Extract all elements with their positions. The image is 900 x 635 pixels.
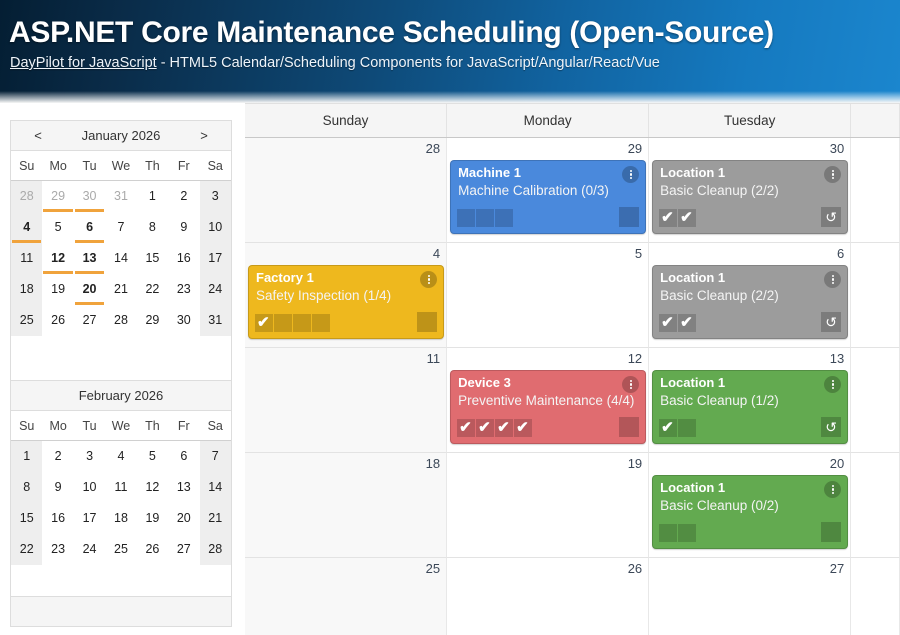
month-day-cell[interactable]: 13Location 1Basic Cleanup (1/2)✔↺ — [649, 348, 851, 453]
navigator-day-cell[interactable]: 28 — [105, 305, 136, 336]
event-task-text: Safety Inspection (1/4) — [256, 288, 391, 303]
checkbox-checked-icon[interactable]: ✔ — [514, 419, 532, 437]
navigator-day-cell[interactable]: 15 — [11, 503, 42, 534]
event-resource-name: Factory 1 — [256, 270, 314, 285]
navigator-day-of-week: Sa — [200, 411, 231, 440]
calendar-event[interactable]: Location 1Basic Cleanup (0/2) — [652, 475, 848, 549]
checkbox-empty-icon[interactable] — [659, 524, 677, 542]
checkbox-empty-icon[interactable] — [293, 314, 311, 332]
event-task-text: Preventive Maintenance (4/4) — [458, 393, 634, 408]
navigator-day-cell[interactable]: 4 — [105, 441, 136, 472]
navigator-day-cell[interactable]: 15 — [137, 243, 168, 274]
month-week-row: 181920Location 1Basic Cleanup (0/2) — [245, 453, 900, 558]
checkbox-checked-icon[interactable]: ✔ — [659, 419, 677, 437]
navigator-weeks: 1234567891011121314151617181920212223242… — [11, 441, 231, 565]
navigator-week-row: 45678910 — [11, 212, 231, 243]
navigator-day-cell[interactable]: 30 — [74, 181, 105, 212]
month-day-cell[interactable]: 29Machine 1Machine Calibration (0/3) — [447, 138, 649, 243]
month-day-cell[interactable]: 5 — [447, 243, 649, 348]
navigator-day-of-week: Th — [137, 151, 168, 180]
checkbox-checked-icon[interactable]: ✔ — [678, 314, 696, 332]
event-action-square[interactable] — [417, 312, 437, 332]
checkbox-empty-icon[interactable] — [678, 524, 696, 542]
month-header-cell: Tuesday — [649, 104, 851, 137]
navigator-day-cell[interactable]: 23 — [168, 274, 199, 305]
navigator-day-cell[interactable]: 22 — [137, 274, 168, 305]
navigator-month-title-bar: February 2026 — [11, 381, 231, 411]
event-resource-name: Location 1 — [660, 165, 725, 180]
check-glyph: ✔ — [680, 210, 693, 226]
navigator-day-cell[interactable]: 21 — [105, 274, 136, 305]
check-glyph: ✔ — [516, 420, 529, 436]
page-content: <>January 2026SuMoTuWeThFrSa282930311234… — [0, 103, 900, 635]
navigator-day-of-week: We — [105, 151, 136, 180]
navigator-day-cell[interactable]: 30 — [168, 305, 199, 336]
banner-subtitle-rest: - HTML5 Calendar/Scheduling Components f… — [157, 55, 660, 71]
month-day-number: 19 — [628, 456, 642, 471]
checkbox-empty-icon[interactable] — [678, 419, 696, 437]
event-reset-refresh-icon[interactable]: ↺ — [821, 312, 841, 332]
navigator-day-cell[interactable]: 6 — [74, 212, 105, 243]
event-task-text: Basic Cleanup (1/2) — [660, 393, 779, 408]
navigator-day-cell[interactable]: 27 — [168, 534, 199, 565]
month-header-cell — [851, 104, 900, 137]
checkbox-empty-icon[interactable] — [312, 314, 330, 332]
month-week-row: 2829Machine 1Machine Calibration (0/3)30… — [245, 138, 900, 243]
calendar-event[interactable]: Device 3Preventive Maintenance (4/4)✔✔✔✔ — [450, 370, 646, 444]
event-reset-refresh-icon[interactable]: ↺ — [821, 207, 841, 227]
month-calendar-header: SundayMondayTuesday — [245, 103, 900, 138]
navigator-day-cell[interactable]: 6 — [168, 441, 199, 472]
month-day-cell[interactable]: 30Location 1Basic Cleanup (2/2)✔✔↺ — [649, 138, 851, 243]
check-glyph: ✔ — [478, 420, 491, 436]
kebab-menu-icon[interactable] — [824, 481, 841, 498]
navigator-day-cell[interactable]: 10 — [74, 472, 105, 503]
date-navigator: <>January 2026SuMoTuWeThFrSa282930311234… — [10, 120, 232, 635]
navigator-month: February 2026SuMoTuWeThFrSa1234567891011… — [10, 380, 232, 596]
page-banner: ASP.NET Core Maintenance Scheduling (Ope… — [0, 0, 900, 103]
event-task-text: Basic Cleanup (2/2) — [660, 288, 779, 303]
month-day-number: 13 — [830, 351, 844, 366]
event-checkbox-group: ✔ — [255, 314, 330, 332]
navigator-day-cell[interactable]: 24 — [200, 274, 231, 305]
checkbox-checked-icon[interactable]: ✔ — [678, 209, 696, 227]
navigator-day-cell[interactable]: 22 — [11, 534, 42, 565]
check-glyph: ✔ — [661, 315, 674, 331]
event-checkbox-group: ✔✔ — [659, 209, 696, 227]
check-glyph: ✔ — [680, 315, 693, 331]
navigator-day-cell[interactable]: 29 — [42, 181, 73, 212]
navigator-day-cell[interactable]: 17 — [200, 243, 231, 274]
navigator-day-cell[interactable]: 16 — [168, 243, 199, 274]
navigator-month-title-bar-partial — [11, 597, 231, 627]
event-checkbox-group: ✔ — [659, 419, 696, 437]
month-day-number: 26 — [628, 561, 642, 576]
navigator-month: <>January 2026SuMoTuWeThFrSa282930311234… — [10, 120, 232, 380]
navigator-day-cell[interactable]: 9 — [42, 472, 73, 503]
navigator-day-of-week: We — [105, 411, 136, 440]
navigator-month-title-bar: <>January 2026 — [11, 121, 231, 151]
navigator-day-of-week: Fr — [168, 411, 199, 440]
checkbox-checked-icon[interactable]: ✔ — [659, 209, 677, 227]
month-day-cell[interactable] — [851, 348, 900, 453]
month-day-cell[interactable]: 28 — [245, 138, 447, 243]
navigator-day-cell[interactable]: 27 — [74, 305, 105, 336]
navigator-weeks: 2829303112345678910111213141516171819202… — [11, 181, 231, 336]
navigator-day-cell[interactable]: 1 — [137, 181, 168, 212]
month-week-row: 252627 — [245, 558, 900, 635]
navigator-day-cell[interactable]: 21 — [200, 503, 231, 534]
navigator-day-cell[interactable]: 26 — [137, 534, 168, 565]
navigator-day-cell[interactable]: 10 — [200, 212, 231, 243]
navigator-day-cell[interactable]: 1 — [11, 441, 42, 472]
navigator-day-cell[interactable]: 5 — [137, 441, 168, 472]
check-glyph: ✔ — [661, 420, 674, 436]
navigator-day-cell[interactable]: 3 — [74, 441, 105, 472]
navigator-day-cell[interactable]: 3 — [200, 181, 231, 212]
event-resource-name: Machine 1 — [458, 165, 521, 180]
navigator-day-cell[interactable]: 23 — [42, 534, 73, 565]
navigator-day-of-week: Th — [137, 411, 168, 440]
navigator-month-label: February 2026 — [79, 388, 164, 403]
checkbox-empty-icon[interactable] — [476, 209, 494, 227]
checkbox-checked-icon[interactable]: ✔ — [495, 419, 513, 437]
month-day-cell[interactable]: 19 — [447, 453, 649, 558]
checkbox-checked-icon[interactable]: ✔ — [255, 314, 273, 332]
navigator-week-row: 18192021222324 — [11, 274, 231, 305]
checkbox-checked-icon[interactable]: ✔ — [659, 314, 677, 332]
calendar-event[interactable]: Location 1Basic Cleanup (2/2)✔✔↺ — [652, 265, 848, 339]
navigator-day-cell[interactable]: 31 — [105, 181, 136, 212]
navigator-day-cell[interactable]: 7 — [105, 212, 136, 243]
navigator-day-cell[interactable]: 13 — [74, 243, 105, 274]
navigator-day-cell[interactable]: 2 — [42, 441, 73, 472]
navigator-filler — [11, 336, 231, 380]
navigator-day-cell[interactable]: 18 — [11, 274, 42, 305]
month-calendar: SundayMondayTuesday 2829Machine 1Machine… — [245, 103, 900, 635]
navigator-next-icon[interactable]: > — [191, 121, 217, 151]
calendar-event[interactable]: Location 1Basic Cleanup (2/2)✔✔↺ — [652, 160, 848, 234]
month-day-cell[interactable]: 27 — [649, 558, 851, 635]
check-glyph: ✔ — [661, 210, 674, 226]
navigator-day-cell[interactable]: 11 — [11, 243, 42, 274]
month-day-cell[interactable]: 26 — [447, 558, 649, 635]
navigator-day-cell[interactable]: 4 — [11, 212, 42, 243]
check-glyph: ✔ — [497, 420, 510, 436]
navigator-day-of-week-row: SuMoTuWeThFrSa — [11, 151, 231, 181]
navigator-day-cell[interactable]: 5 — [42, 212, 73, 243]
event-action-square[interactable] — [821, 522, 841, 542]
navigator-day-cell[interactable]: 9 — [168, 212, 199, 243]
page-title: ASP.NET Core Maintenance Scheduling (Ope… — [9, 16, 774, 50]
month-day-number: 27 — [830, 561, 844, 576]
check-glyph: ✔ — [257, 315, 270, 331]
calendar-event[interactable]: Location 1Basic Cleanup (1/2)✔↺ — [652, 370, 848, 444]
navigator-day-cell[interactable]: 25 — [105, 534, 136, 565]
navigator-day-cell[interactable]: 20 — [168, 503, 199, 534]
navigator-day-cell[interactable]: 19 — [42, 274, 73, 305]
navigator-day-cell[interactable]: 17 — [74, 503, 105, 534]
banner-subtitle: DayPilot for JavaScript - HTML5 Calendar… — [10, 55, 660, 71]
navigator-day-cell[interactable]: 12 — [137, 472, 168, 503]
navigator-prev-icon[interactable]: < — [25, 121, 51, 151]
navigator-day-of-week: Sa — [200, 151, 231, 180]
navigator-day-cell[interactable]: 25 — [11, 305, 42, 336]
navigator-day-cell[interactable]: 13 — [168, 472, 199, 503]
month-day-cell[interactable]: 11 — [245, 348, 447, 453]
month-day-cell[interactable]: 12Device 3Preventive Maintenance (4/4)✔✔… — [447, 348, 649, 453]
navigator-week-row: 28293031123 — [11, 181, 231, 212]
event-task-text: Basic Cleanup (0/2) — [660, 498, 779, 513]
month-header-cell: Sunday — [245, 104, 447, 137]
navigator-day-of-week: Su — [11, 151, 42, 180]
month-day-cell[interactable] — [851, 243, 900, 348]
kebab-menu-icon[interactable] — [420, 271, 437, 288]
checkbox-empty-icon[interactable] — [274, 314, 292, 332]
refresh-glyph: ↺ — [821, 417, 841, 437]
month-header-cell: Monday — [447, 104, 649, 137]
month-day-number: 18 — [426, 456, 440, 471]
month-day-number: 25 — [426, 561, 440, 576]
navigator-day-cell[interactable]: 8 — [11, 472, 42, 503]
month-day-cell[interactable]: 20Location 1Basic Cleanup (0/2) — [649, 453, 851, 558]
navigator-day-cell[interactable]: 31 — [200, 305, 231, 336]
navigator-week-row: 25262728293031 — [11, 305, 231, 336]
checkbox-checked-icon[interactable]: ✔ — [457, 419, 475, 437]
navigator-day-cell[interactable]: 14 — [105, 243, 136, 274]
month-day-number: 6 — [837, 246, 844, 261]
checkbox-empty-icon[interactable] — [495, 209, 513, 227]
month-day-number: 5 — [635, 246, 642, 261]
navigator-week-row: 11121314151617 — [11, 243, 231, 274]
event-resource-name: Location 1 — [660, 375, 725, 390]
event-action-square[interactable] — [619, 417, 639, 437]
month-day-number: 29 — [628, 141, 642, 156]
refresh-glyph: ↺ — [821, 207, 841, 227]
kebab-menu-icon[interactable] — [824, 376, 841, 393]
navigator-day-cell[interactable]: 11 — [105, 472, 136, 503]
month-day-cell[interactable]: 18 — [245, 453, 447, 558]
navigator-day-cell[interactable]: 29 — [137, 305, 168, 336]
kebab-menu-icon[interactable] — [824, 271, 841, 288]
month-day-number: 30 — [830, 141, 844, 156]
navigator-week-row: 15161718192021 — [11, 503, 231, 534]
navigator-week-row: 1234567 — [11, 441, 231, 472]
event-checkbox-group: ✔✔ — [659, 314, 696, 332]
navigator-day-of-week: Mo — [42, 151, 73, 180]
navigator-day-cell[interactable]: 28 — [200, 534, 231, 565]
month-day-cell[interactable]: 6Location 1Basic Cleanup (2/2)✔✔↺ — [649, 243, 851, 348]
navigator-day-cell[interactable]: 2 — [168, 181, 199, 212]
event-checkbox-group — [659, 524, 696, 542]
event-action-square[interactable] — [619, 207, 639, 227]
navigator-day-cell[interactable]: 8 — [137, 212, 168, 243]
month-day-cell[interactable] — [851, 453, 900, 558]
event-task-text: Basic Cleanup (2/2) — [660, 183, 779, 198]
month-day-cell[interactable]: 4Factory 1Safety Inspection (1/4)✔ — [245, 243, 447, 348]
month-day-cell[interactable] — [851, 138, 900, 243]
navigator-month-partial — [10, 596, 232, 627]
checkbox-empty-icon[interactable] — [457, 209, 475, 227]
navigator-day-cell[interactable]: 26 — [42, 305, 73, 336]
event-reset-refresh-icon[interactable]: ↺ — [821, 417, 841, 437]
event-checkbox-group — [457, 209, 513, 227]
month-day-number: 11 — [427, 351, 441, 366]
kebab-menu-icon[interactable] — [622, 166, 639, 183]
kebab-menu-icon[interactable] — [824, 166, 841, 183]
check-glyph: ✔ — [459, 420, 472, 436]
month-week-row: 4Factory 1Safety Inspection (1/4)✔56Loca… — [245, 243, 900, 348]
navigator-day-cell[interactable]: 18 — [105, 503, 136, 534]
navigator-day-of-week: Su — [11, 411, 42, 440]
navigator-day-of-week-row: SuMoTuWeThFrSa — [11, 411, 231, 441]
month-calendar-body: 2829Machine 1Machine Calibration (0/3)30… — [245, 138, 900, 635]
calendar-event[interactable]: Machine 1Machine Calibration (0/3) — [450, 160, 646, 234]
navigator-day-cell[interactable]: 16 — [42, 503, 73, 534]
navigator-filler — [11, 565, 231, 596]
calendar-event[interactable]: Factory 1Safety Inspection (1/4)✔ — [248, 265, 444, 339]
navigator-day-cell[interactable]: 28 — [11, 181, 42, 212]
event-checkbox-group: ✔✔✔✔ — [457, 419, 532, 437]
navigator-day-cell[interactable]: 20 — [74, 274, 105, 305]
event-resource-name: Location 1 — [660, 270, 725, 285]
navigator-day-of-week: Tu — [74, 411, 105, 440]
navigator-day-of-week: Tu — [74, 151, 105, 180]
navigator-day-cell[interactable]: 7 — [200, 441, 231, 472]
month-day-number: 20 — [830, 456, 844, 471]
daypilot-link[interactable]: DayPilot for JavaScript — [10, 55, 157, 71]
month-day-cell[interactable] — [851, 558, 900, 635]
event-resource-name: Location 1 — [660, 480, 725, 495]
navigator-week-row: 22232425262728 — [11, 534, 231, 565]
kebab-menu-icon[interactable] — [622, 376, 639, 393]
month-day-cell[interactable]: 25 — [245, 558, 447, 635]
month-week-row: 1112Device 3Preventive Maintenance (4/4)… — [245, 348, 900, 453]
navigator-month-label: January 2026 — [82, 128, 161, 143]
refresh-glyph: ↺ — [821, 312, 841, 332]
month-day-number: 28 — [426, 141, 440, 156]
navigator-day-cell[interactable]: 19 — [137, 503, 168, 534]
event-resource-name: Device 3 — [458, 375, 511, 390]
navigator-day-cell[interactable]: 24 — [74, 534, 105, 565]
navigator-week-row: 891011121314 — [11, 472, 231, 503]
navigator-day-cell[interactable]: 12 — [42, 243, 73, 274]
month-day-number: 4 — [433, 246, 440, 261]
checkbox-checked-icon[interactable]: ✔ — [476, 419, 494, 437]
navigator-day-of-week: Mo — [42, 411, 73, 440]
navigator-day-cell[interactable]: 14 — [200, 472, 231, 503]
navigator-day-of-week: Fr — [168, 151, 199, 180]
event-task-text: Machine Calibration (0/3) — [458, 183, 609, 198]
month-day-number: 12 — [628, 351, 642, 366]
